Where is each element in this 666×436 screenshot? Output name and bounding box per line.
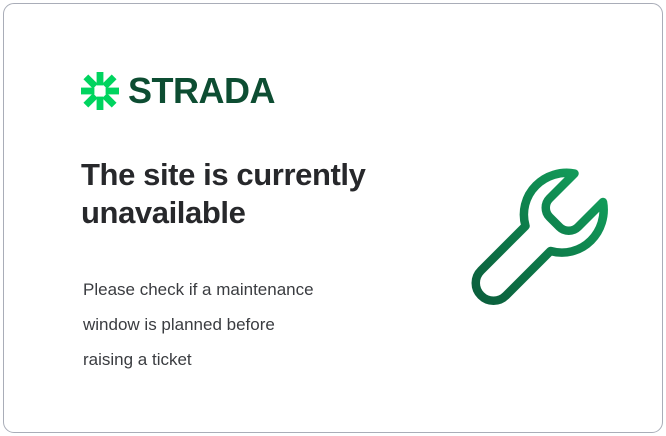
wrench-icon xyxy=(456,152,620,316)
strada-logo: STRADA xyxy=(81,66,441,116)
asterisk-star-icon xyxy=(81,72,119,110)
error-page: STRADA The site is currently unavailable… xyxy=(0,0,666,436)
brand-name: STRADA xyxy=(128,73,275,109)
description-line: Please check if a maintenance xyxy=(83,272,413,307)
description-line: window is planned before xyxy=(83,307,413,342)
page-description: Please check if a maintenance window is … xyxy=(83,272,413,377)
page-title: The site is currently unavailable xyxy=(81,156,431,232)
brand-lockup: STRADA xyxy=(81,66,441,116)
status-card: STRADA The site is currently unavailable… xyxy=(3,3,663,433)
description-line: raising a ticket xyxy=(83,342,413,377)
